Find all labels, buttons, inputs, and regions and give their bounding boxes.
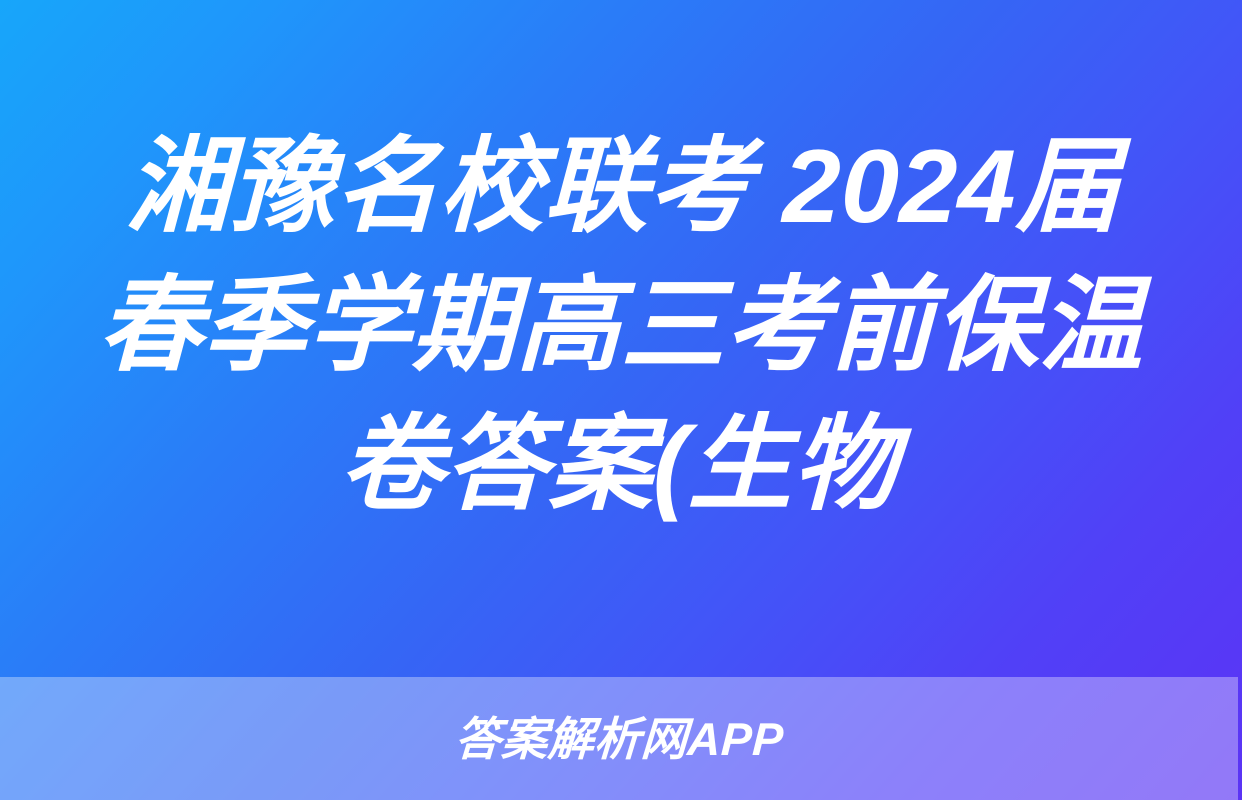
watermark-label: 答案解析网APP	[453, 716, 784, 762]
poster-canvas: 湘豫名校联考 2024届春季学期高三考前保温卷答案(生物 答案解析网APP	[0, 0, 1242, 800]
headline-block: 湘豫名校联考 2024届春季学期高三考前保温卷答案(生物	[0, 0, 1242, 677]
page-title: 湘豫名校联考 2024届春季学期高三考前保温卷答案(生物	[68, 118, 1173, 535]
watermark-band: 答案解析网APP	[0, 677, 1238, 800]
